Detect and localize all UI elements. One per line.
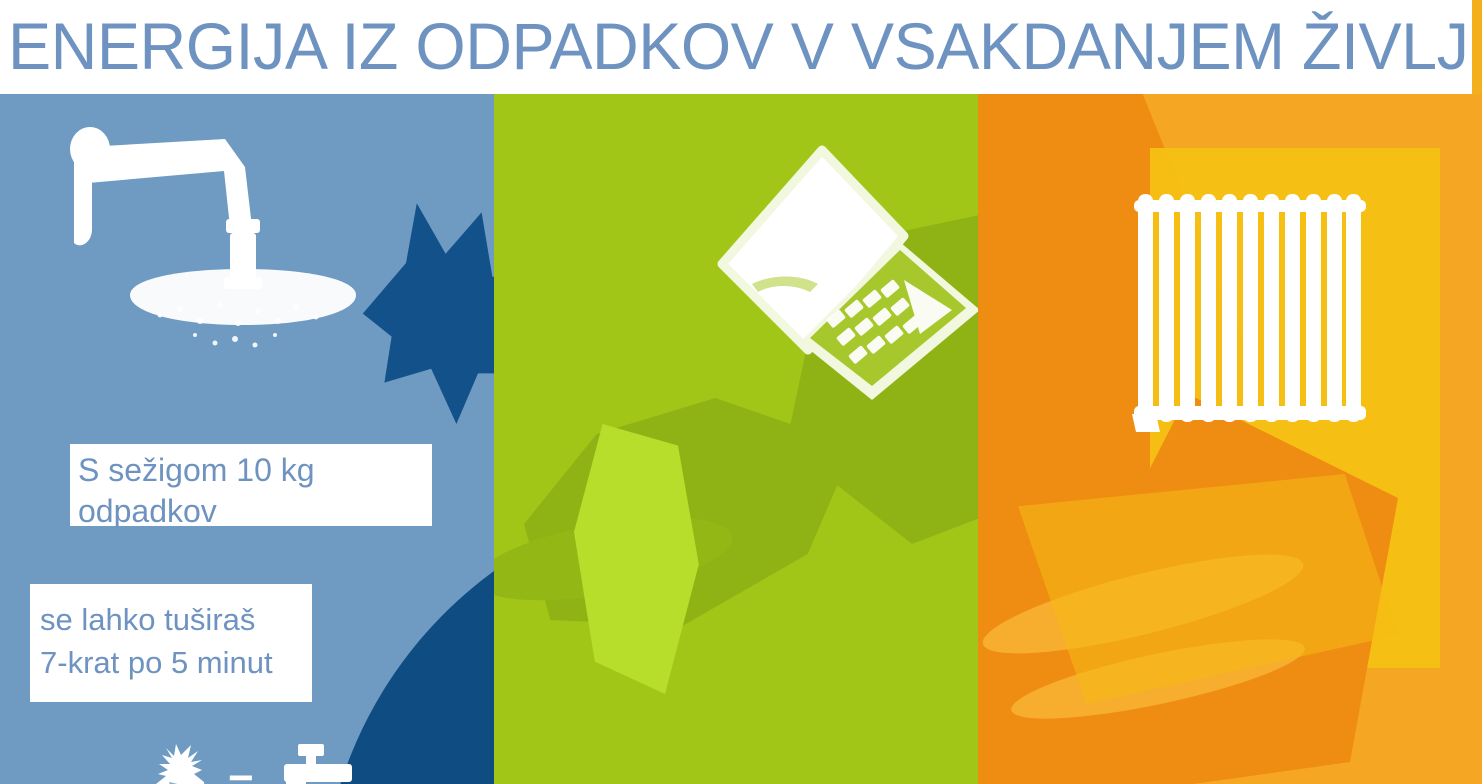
green-bright-shape	[574, 424, 704, 694]
waste-bag-icon	[150, 742, 210, 784]
green-stalk-shape	[494, 502, 738, 616]
title-bar: ENERGIJA IZ ODPADKOV V VSAKDANJEM ŽIVLJE…	[0, 0, 1482, 94]
yellow-wash-shape	[1018, 474, 1398, 704]
navy-leaf-shape	[352, 194, 494, 424]
water-detail-line-1: se lahko tuširaš	[40, 598, 312, 641]
equals-sign: =	[228, 762, 254, 784]
shower-head-icon	[30, 109, 360, 379]
water-headline-box: S sežigom 10 kg odpadkov	[70, 444, 432, 526]
panel-power: S sežigom 10 kg odpadkov lahko polniš sv…	[494, 94, 978, 784]
radiator-icon	[1130, 184, 1370, 434]
panel-heat: S sežigom 10 kg odpadkov lahko ogrevaš s…	[978, 94, 1482, 784]
page-title: ENERGIJA IZ ODPADKOV V VSAKDANJEM ŽIVLJE…	[8, 2, 1429, 90]
laptop-icon	[604, 124, 978, 424]
orange-stripe-shape-1	[978, 535, 1310, 673]
faucet-icon	[272, 742, 364, 784]
water-equation-row: =	[150, 742, 364, 784]
panel-water: S sežigom 10 kg odpadkov se lahko tušira…	[0, 94, 494, 784]
water-headline-line-2: odpadkov	[78, 491, 432, 532]
title-right-edge-strip	[1472, 0, 1482, 94]
orange-dark-shape-b	[1098, 394, 1398, 784]
water-detail-line-2: 7-krat po 5 minut	[40, 641, 312, 684]
water-headline-line-1: S sežigom 10 kg	[78, 450, 432, 491]
orange-stripe-shape-2	[1006, 623, 1310, 734]
water-detail-box: se lahko tuširaš 7-krat po 5 minut	[30, 584, 312, 702]
infographic-canvas: ENERGIJA IZ ODPADKOV V VSAKDANJEM ŽIVLJE…	[0, 0, 1482, 784]
